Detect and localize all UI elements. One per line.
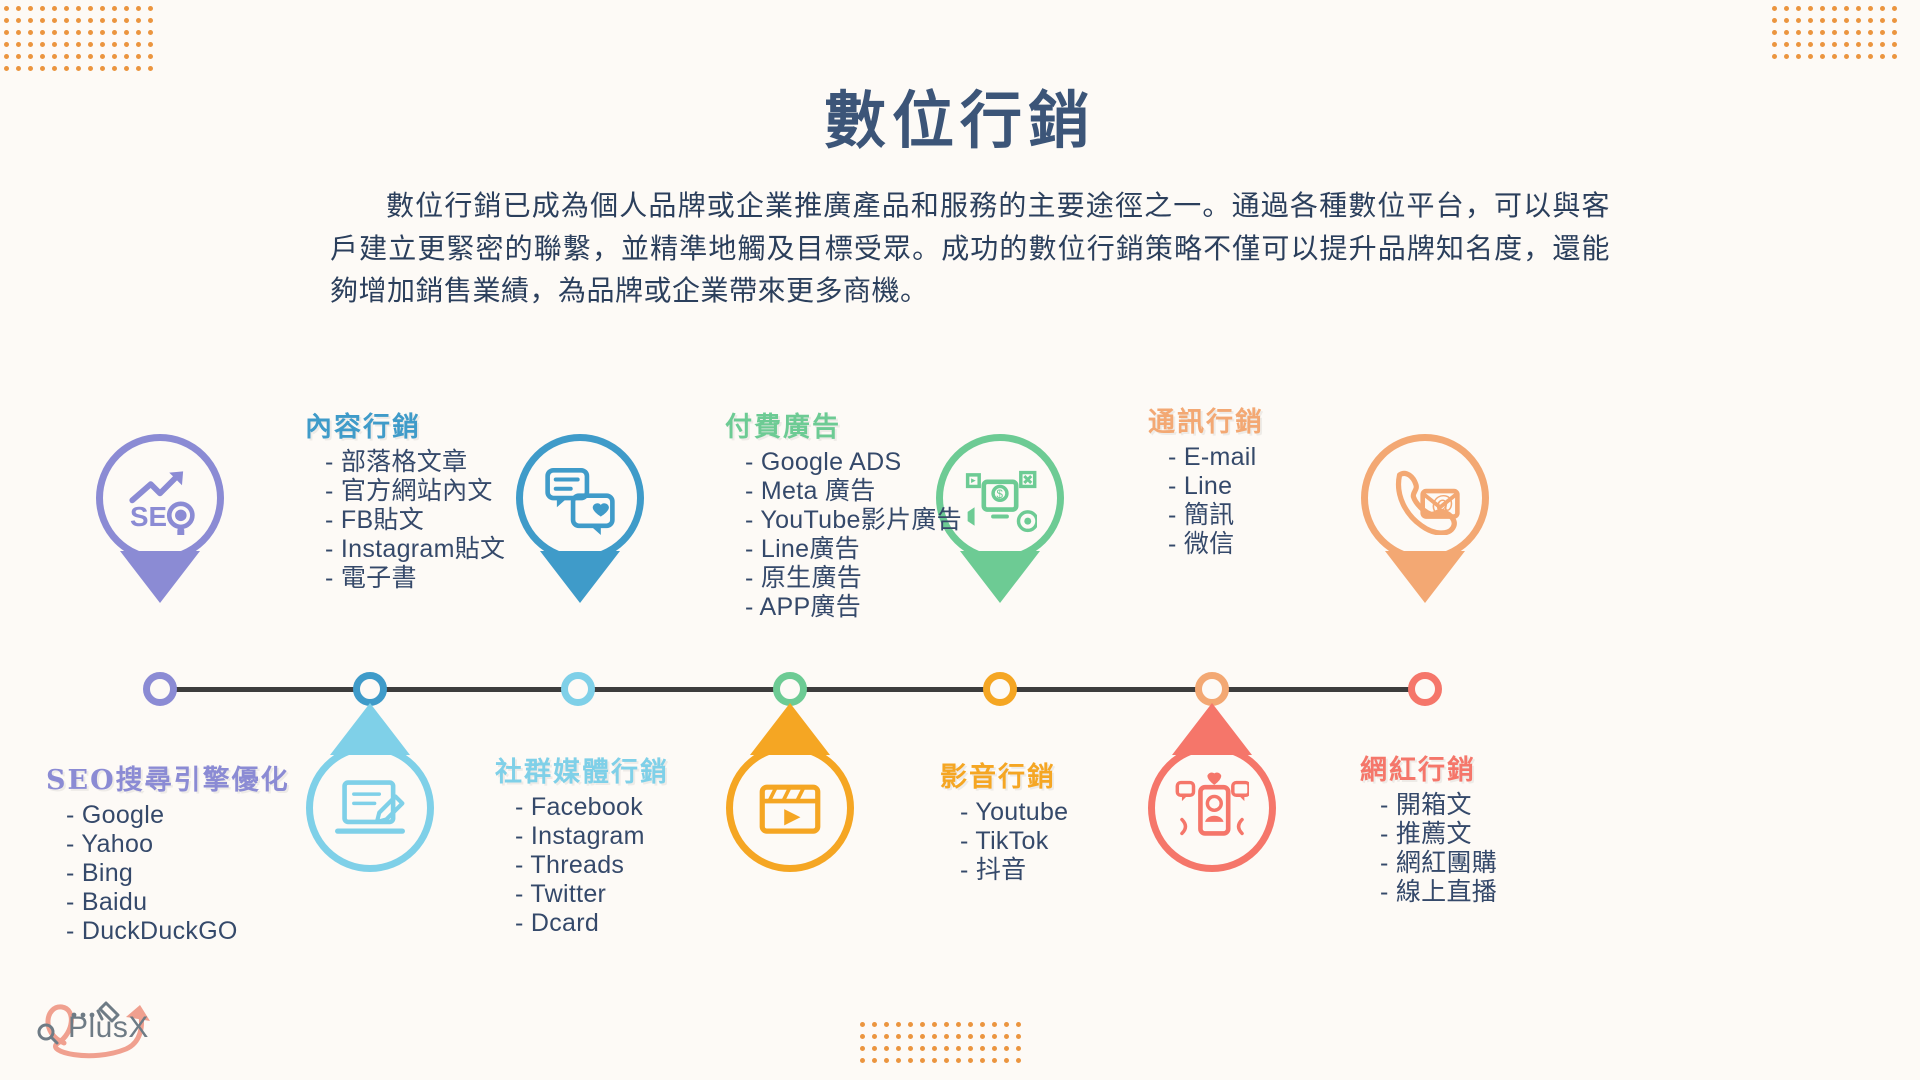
node-block-seo: SEO搜尋引擎優化GoogleYahooBingBaiduDuckDuckGO <box>46 758 290 946</box>
node-block-paidads: 付費廣告Google ADSMeta 廣告YouTube影片廣告Line廣告原生… <box>725 405 962 622</box>
node-block-messaging: 通訊行銷E-mailLine簡訊微信 <box>1148 400 1264 559</box>
pin-video <box>750 703 830 755</box>
svg-text:@: @ <box>1431 491 1454 517</box>
list-item: 電子書 <box>325 564 505 593</box>
list-item: 原生廣告 <box>745 564 962 593</box>
logo-wordmark: PlusX <box>68 1011 149 1045</box>
list-item: Youtube <box>960 798 1068 827</box>
node-heading-influencer: 網紅行銷 <box>1360 748 1497 787</box>
list-item: Line <box>1168 472 1264 501</box>
list-item: Google ADS <box>745 448 962 477</box>
infographic-canvas: 數位行銷 數位行銷已成為個人品牌或企業推廣產品和服務的主要途徑之一。通過各種數位… <box>0 0 1920 1080</box>
medallion-messaging[interactable]: @ <box>1361 434 1489 562</box>
list-item: FB貼文 <box>325 506 505 535</box>
list-item: 微信 <box>1168 530 1264 559</box>
dot-pattern-top-right <box>1772 6 1904 66</box>
medallion-seo[interactable]: SE <box>96 434 224 562</box>
node-heading-content: 內容行銷 <box>305 405 505 444</box>
list-item: Instagram貼文 <box>325 535 505 564</box>
medallion-social[interactable] <box>306 744 434 872</box>
node-heading-video: 影音行銷 <box>940 755 1068 794</box>
intro-paragraph: 數位行銷已成為個人品牌或企業推廣產品和服務的主要途徑之一。通過各種數位平台，可以… <box>330 185 1610 313</box>
node-heading-seo: SEO搜尋引擎優化 <box>46 758 290 797</box>
chat-bubbles-icon <box>543 461 617 535</box>
pin-influencer <box>1172 703 1252 755</box>
list-item: 官方網站內文 <box>325 477 505 506</box>
video-player-icon <box>753 771 827 845</box>
list-item: 開箱文 <box>1380 791 1497 820</box>
node-list-video: YoutubeTikTok抖音 <box>940 798 1068 885</box>
list-item: Bing <box>66 859 290 888</box>
timeline-dot-social[interactable] <box>561 672 595 706</box>
medallion-video[interactable] <box>726 744 854 872</box>
phone-hearts-icon <box>1175 771 1249 845</box>
pin-content <box>540 551 620 603</box>
list-item: 抖音 <box>960 856 1068 885</box>
timeline-dot-seo[interactable] <box>143 672 177 706</box>
medallion-influencer[interactable] <box>1148 744 1276 872</box>
node-list-social: FacebookInstagramThreadsTwitterDcard <box>495 793 669 938</box>
svg-text:SE: SE <box>130 501 167 532</box>
list-item: DuckDuckGO <box>66 917 290 946</box>
node-list-paidads: Google ADSMeta 廣告YouTube影片廣告Line廣告原生廣告AP… <box>725 448 962 622</box>
node-list-seo: GoogleYahooBingBaiduDuckDuckGO <box>46 801 290 946</box>
list-item: Dcard <box>515 909 669 938</box>
pin-paidads <box>960 551 1040 603</box>
list-item: Threads <box>515 851 669 880</box>
node-block-video: 影音行銷YoutubeTikTok抖音 <box>940 755 1068 885</box>
medallion-content[interactable] <box>516 434 644 562</box>
list-item: Line廣告 <box>745 535 962 564</box>
node-block-content: 內容行銷部落格文章官方網站內文FB貼文Instagram貼文電子書 <box>305 405 505 593</box>
svg-text:$: $ <box>997 489 1004 501</box>
laptop-pen-icon <box>333 771 407 845</box>
node-heading-social: 社群媒體行銷 <box>495 750 669 789</box>
list-item: 網紅團購 <box>1380 849 1497 878</box>
ads-screen-icon: $ <box>963 461 1037 535</box>
dot-pattern-bottom-center <box>860 1022 1028 1070</box>
node-block-social: 社群媒體行銷FacebookInstagramThreadsTwitterDca… <box>495 750 669 938</box>
list-item: 部落格文章 <box>325 448 505 477</box>
node-block-influencer: 網紅行銷開箱文推薦文網紅團購線上直播 <box>1360 748 1497 907</box>
node-heading-messaging: 通訊行銷 <box>1148 400 1264 439</box>
seo-chart-magnifier-icon: SE <box>123 461 197 535</box>
node-list-influencer: 開箱文推薦文網紅團購線上直播 <box>1360 791 1497 907</box>
page-title: 數位行銷 <box>0 70 1920 160</box>
timeline-dot-paidads[interactable] <box>773 672 807 706</box>
list-item: Facebook <box>515 793 669 822</box>
timeline-dot-influencer[interactable] <box>1408 672 1442 706</box>
list-item: Yahoo <box>66 830 290 859</box>
list-item: YouTube影片廣告 <box>745 506 962 535</box>
list-item: Google <box>66 801 290 830</box>
node-list-messaging: E-mailLine簡訊微信 <box>1148 443 1264 559</box>
list-item: Meta 廣告 <box>745 477 962 506</box>
pin-seo <box>120 551 200 603</box>
list-item: 線上直播 <box>1380 878 1497 907</box>
dot-pattern-top-left <box>4 6 160 78</box>
list-item: 簡訊 <box>1168 501 1264 530</box>
plusx-logo: PlusX <box>22 985 172 1065</box>
list-item: Baidu <box>66 888 290 917</box>
node-list-content: 部落格文章官方網站內文FB貼文Instagram貼文電子書 <box>305 448 505 593</box>
timeline-dot-video[interactable] <box>983 672 1017 706</box>
pin-messaging <box>1385 551 1465 603</box>
list-item: APP廣告 <box>745 593 962 622</box>
list-item: Twitter <box>515 880 669 909</box>
timeline-dot-content[interactable] <box>353 672 387 706</box>
node-heading-paidads: 付費廣告 <box>725 405 962 444</box>
timeline-dot-messaging[interactable] <box>1195 672 1229 706</box>
list-item: TikTok <box>960 827 1068 856</box>
list-item: 推薦文 <box>1380 820 1497 849</box>
pin-social <box>330 703 410 755</box>
phone-envelope-at-icon: @ <box>1388 461 1462 535</box>
list-item: Instagram <box>515 822 669 851</box>
list-item: E-mail <box>1168 443 1264 472</box>
